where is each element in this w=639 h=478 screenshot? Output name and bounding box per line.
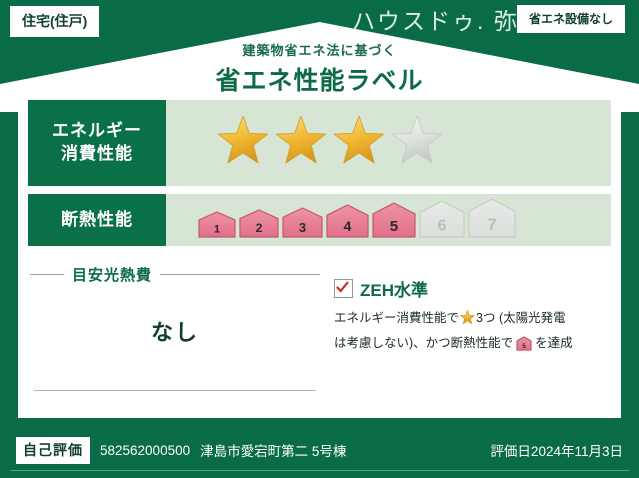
utility-cost-section: 目安光熱費 なし	[30, 260, 320, 410]
svg-text:6: 6	[438, 217, 447, 234]
star-rating	[216, 114, 444, 173]
page-title: 省エネ性能ラベル	[0, 61, 639, 97]
energy-key-line2: 消費性能	[61, 144, 133, 163]
energy-performance-row: エネルギー 消費性能	[28, 100, 611, 186]
check-icon	[334, 279, 353, 298]
rule-left	[30, 274, 64, 275]
energy-performance-key: エネルギー 消費性能	[28, 100, 166, 186]
star-icon	[216, 114, 270, 173]
star-icon	[274, 114, 328, 173]
chip-housing-type: 住宅(住戸)	[10, 6, 99, 37]
insulation-level-3: 3	[282, 207, 323, 243]
insulation-performance-key: 断熱性能	[28, 194, 166, 246]
insulation-performance-value: 1234567	[166, 194, 611, 246]
evaluation-date: 評価日2024年11月3日	[490, 440, 623, 460]
insulation-level-5: 5	[372, 202, 416, 243]
chip-equipment-status: 省エネ設備なし	[517, 5, 625, 33]
self-evaluation-badge: 自己評価	[16, 437, 90, 464]
energy-performance-value	[166, 100, 611, 186]
svg-text:5: 5	[522, 343, 526, 350]
title-subtitle: 建築物省エネ法に基づく	[0, 40, 639, 59]
zeh-section: ZEH水準 エネルギー消費性能で3つ (太陽光発電 は考慮しない)、かつ断熱性能…	[320, 260, 609, 410]
star-icon	[390, 114, 444, 173]
rule-right	[160, 274, 320, 275]
insulation-level-scale: 1234567	[198, 198, 516, 243]
label-body: エネルギー 消費性能 断熱性能 1234567 目安光熱費	[18, 88, 621, 418]
lower-section: 目安光熱費 なし ZEH水準 エネルギー消費性能で3つ (太陽光発電	[30, 260, 609, 410]
zeh-desc-line1-b: 3つ (太陽光発電	[476, 311, 566, 325]
svg-text:5: 5	[390, 217, 398, 234]
star-icon	[460, 310, 475, 333]
energy-key-line1: エネルギー	[52, 121, 142, 140]
insulation-performance-row: 断熱性能 1234567	[28, 194, 611, 246]
svg-text:2: 2	[256, 221, 263, 235]
zeh-desc-line2-b: を達成	[535, 336, 573, 350]
zeh-title: ZEH水準	[360, 276, 428, 301]
svg-text:4: 4	[344, 219, 352, 235]
svg-text:1: 1	[214, 223, 220, 235]
insulation-level-4: 4	[326, 204, 369, 243]
utility-cost-divider	[34, 390, 316, 391]
footer-hairline	[10, 470, 629, 471]
title-block: 建築物省エネ法に基づく 省エネ性能ラベル	[0, 40, 639, 97]
footer-content: 自己評価 582562000500 津島市愛宕町第二 5号棟 評価日2024年1…	[0, 437, 639, 464]
insulation-level-6: 6	[419, 200, 465, 243]
insulation-level-1: 1	[198, 211, 236, 243]
svg-text:3: 3	[299, 219, 306, 234]
utility-cost-title: 目安光熱費	[72, 264, 152, 285]
utility-cost-header: 目安光熱費	[30, 264, 320, 285]
footer-bar: 自己評価 582562000500 津島市愛宕町第二 5号棟 評価日2024年1…	[0, 422, 639, 478]
insulation-level-7: 7	[468, 198, 516, 243]
energy-performance-label: ハウスドゥ. 弥 住宅(住戸) 省エネ設備なし 建築物省エネ法に基づく 省エネ性…	[0, 0, 639, 478]
certificate-id: 582562000500	[100, 443, 190, 458]
zeh-header: ZEH水準	[334, 276, 609, 301]
insulation-level-2: 2	[239, 209, 279, 243]
zeh-desc-line2-a: は考慮しない)、かつ断熱性能で	[334, 336, 513, 350]
star-icon	[332, 114, 386, 173]
zeh-desc-line1-a: エネルギー消費性能で	[334, 311, 459, 325]
house-badge-icon: 5	[516, 336, 532, 359]
svg-text:7: 7	[487, 215, 496, 234]
zeh-description: エネルギー消費性能で3つ (太陽光発電 は考慮しない)、かつ断熱性能で5を達成	[334, 308, 609, 358]
utility-cost-value: なし	[30, 315, 320, 347]
property-address: 津島市愛宕町第二 5号棟	[200, 440, 346, 460]
